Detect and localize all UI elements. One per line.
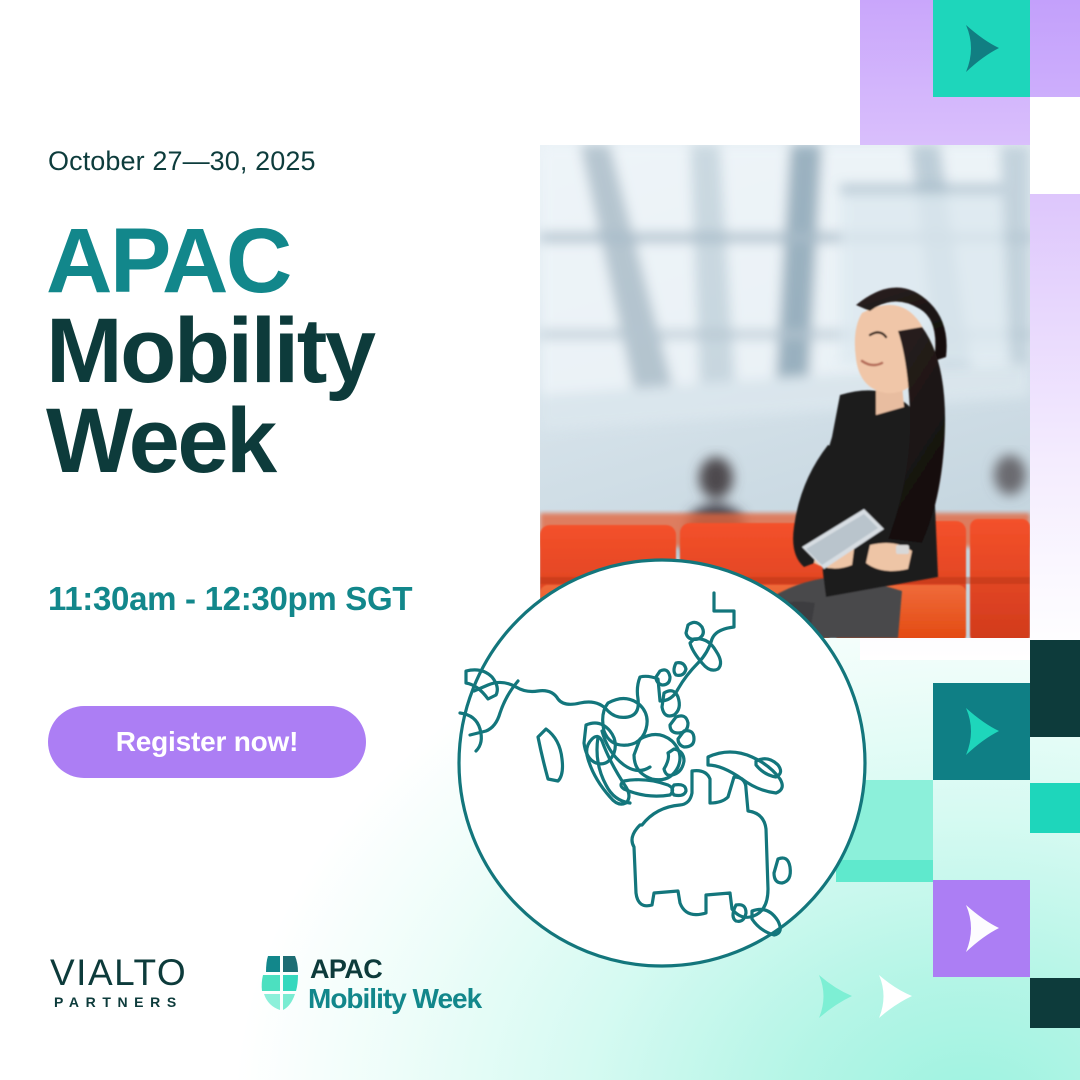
vialto-wordmark: VIALTO (50, 952, 187, 993)
vialto-partners-logo: VIALTO PARTNERS (50, 952, 250, 1014)
globe-grid-icon (262, 956, 298, 1010)
vialto-tagline: PARTNERS (54, 994, 183, 1010)
register-now-button[interactable]: Register now! (48, 706, 366, 778)
page-title: APAC Mobility Week (46, 216, 516, 486)
mint-arrow-icon (812, 970, 864, 1022)
title-line-mobility: Mobility (46, 306, 516, 396)
purple-square-top-right (1030, 0, 1080, 97)
title-line-week: Week (46, 396, 516, 486)
title-line-apac: APAC (46, 216, 516, 306)
turquoise-arrow-square-top (933, 0, 1030, 97)
dark-teal-square-bottom (1030, 978, 1080, 1028)
apac-mobility-week-logo: APAC Mobility Week (258, 950, 490, 1016)
poster-canvas: October 27—30, 2025 APAC Mobility Week 1… (0, 0, 1080, 1080)
apac-logo-line1: APAC (310, 954, 382, 984)
white-arrow-icon (872, 970, 924, 1022)
event-time: 11:30am - 12:30pm SGT (48, 580, 412, 618)
purple-arrow-square (933, 880, 1030, 977)
white-patch-b (1030, 97, 1080, 194)
event-date: October 27—30, 2025 (48, 146, 316, 177)
teal-arrow-square (933, 683, 1030, 780)
turquoise-square-right (1030, 783, 1080, 833)
apac-logo-line2: Mobility Week (308, 983, 483, 1014)
dark-teal-square-right (1030, 640, 1080, 737)
apac-globe-graphic (452, 553, 872, 973)
